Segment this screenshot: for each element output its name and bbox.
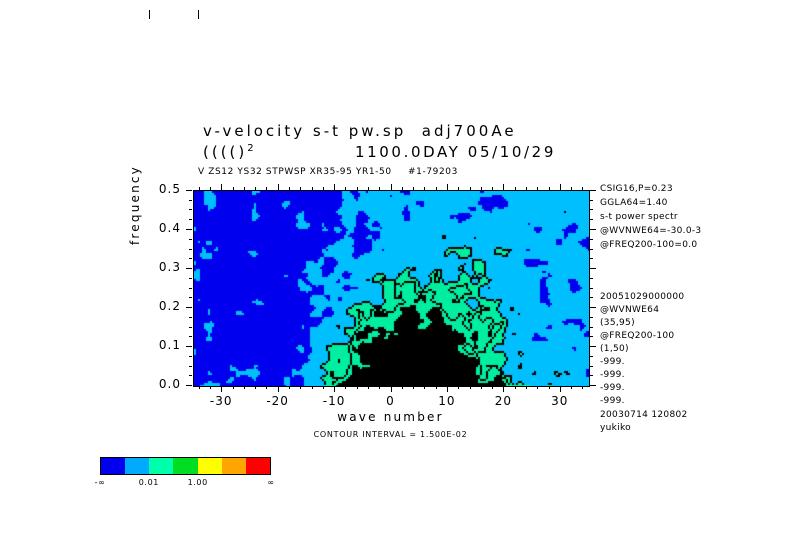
x-minor-tick xyxy=(413,386,414,389)
x-major-tick-top xyxy=(447,184,448,190)
x-minor-tick xyxy=(526,386,527,389)
x-major-tick-top xyxy=(560,184,561,190)
x-minor-tick-top xyxy=(357,187,358,190)
color-legend xyxy=(100,457,271,475)
y-minor-tick-right xyxy=(590,288,593,289)
y-minor-tick-right xyxy=(590,209,593,210)
x-minor-tick xyxy=(266,386,267,389)
x-minor-tick-top xyxy=(413,187,414,190)
x-major-tick-top xyxy=(278,184,279,190)
y-major-tick xyxy=(186,307,192,308)
y-minor-tick-right xyxy=(590,317,593,318)
y-minor-tick-right xyxy=(590,249,593,250)
x-major-tick-top xyxy=(334,184,335,190)
annotation-line: GGLA64=1.40 xyxy=(600,198,668,208)
x-major-tick xyxy=(503,386,504,392)
annotation-line: yukiko xyxy=(600,423,631,433)
y-minor-tick xyxy=(189,239,192,240)
x-major-tick-top xyxy=(391,184,392,190)
y-minor-tick xyxy=(189,317,192,318)
annotation-line: -999. xyxy=(600,396,625,406)
y-minor-tick xyxy=(189,209,192,210)
annotation-line: CSIG16,P=0.23 xyxy=(600,184,673,194)
figure-canvas: v-velocity s-t pw.sp adj700Ae (((()2 110… xyxy=(0,0,789,558)
y-minor-tick-right xyxy=(590,356,593,357)
x-minor-tick xyxy=(571,386,572,389)
y-minor-tick-right xyxy=(590,239,593,240)
x-minor-tick-top xyxy=(289,187,290,190)
color-legend-band xyxy=(149,458,173,474)
x-major-tick xyxy=(334,386,335,392)
annotation-line: @WVNWE64=-30.0-3 xyxy=(600,226,701,236)
y-major-tick-right xyxy=(590,307,596,308)
y-major-tick-right xyxy=(590,268,596,269)
x-minor-tick xyxy=(458,386,459,389)
annotation-line: @FREQ200-100 xyxy=(600,331,674,341)
contour-field xyxy=(194,191,589,386)
y-major-tick xyxy=(186,190,192,191)
x-minor-tick xyxy=(424,386,425,389)
x-tick-label: -10 xyxy=(304,394,364,408)
y-tick-label: 0.2 xyxy=(125,299,181,313)
x-major-tick xyxy=(391,386,392,392)
y-major-tick-right xyxy=(590,190,596,191)
x-minor-tick-top xyxy=(526,187,527,190)
y-minor-tick-right xyxy=(590,327,593,328)
y-minor-tick-right xyxy=(590,366,593,367)
color-legend-label: ∞ xyxy=(246,478,296,487)
annotation-line: (1,50) xyxy=(600,344,629,354)
x-minor-tick-top xyxy=(402,187,403,190)
x-minor-tick-top xyxy=(549,187,550,190)
y-minor-tick-right xyxy=(590,375,593,376)
plot-subtitle-units: (((()2 xyxy=(203,143,254,161)
x-tick-label: 0 xyxy=(361,394,421,408)
x-tick-label: 20 xyxy=(473,394,533,408)
x-major-tick-top xyxy=(221,184,222,190)
color-legend-band xyxy=(173,458,197,474)
y-minor-tick-right xyxy=(590,297,593,298)
x-minor-tick xyxy=(379,386,380,389)
x-minor-tick-top xyxy=(582,187,583,190)
y-minor-tick xyxy=(189,258,192,259)
parameter-line: V ZS12 YS32 STPWSP XR35-95 YR1-50 xyxy=(198,167,392,177)
y-minor-tick xyxy=(189,219,192,220)
x-minor-tick-top xyxy=(436,187,437,190)
x-minor-tick-top xyxy=(233,187,234,190)
x-minor-tick xyxy=(312,386,313,389)
y-minor-tick-right xyxy=(590,219,593,220)
x-major-tick xyxy=(447,386,448,392)
plot-title: v-velocity s-t pw.sp adj700Ae xyxy=(203,122,517,140)
y-major-tick-right xyxy=(590,229,596,230)
color-legend-separator xyxy=(198,10,199,19)
x-tick-label: -30 xyxy=(191,394,251,408)
x-minor-tick xyxy=(537,386,538,389)
plot-area xyxy=(193,190,590,387)
y-minor-tick xyxy=(189,278,192,279)
parameter-id: #1-79203 xyxy=(408,167,458,177)
y-major-tick xyxy=(186,385,192,386)
y-minor-tick xyxy=(189,249,192,250)
y-minor-tick xyxy=(189,375,192,376)
y-minor-tick-right xyxy=(590,336,593,337)
x-minor-tick-top xyxy=(210,187,211,190)
x-minor-tick xyxy=(436,386,437,389)
x-minor-tick-top xyxy=(266,187,267,190)
x-minor-tick-top xyxy=(199,187,200,190)
color-legend-separator xyxy=(149,10,150,19)
x-minor-tick xyxy=(255,386,256,389)
y-major-tick-right xyxy=(590,346,596,347)
y-minor-tick xyxy=(189,327,192,328)
x-minor-tick xyxy=(368,386,369,389)
x-minor-tick xyxy=(515,386,516,389)
annotation-line: @FREQ200-100=0.0 xyxy=(600,240,697,250)
y-major-tick-right xyxy=(590,385,596,386)
subtitle-units-text: (((() xyxy=(203,143,247,161)
y-minor-tick xyxy=(189,297,192,298)
color-legend-label: 0.01 xyxy=(124,478,174,487)
color-legend-band xyxy=(125,458,149,474)
x-minor-tick-top xyxy=(379,187,380,190)
annotation-line: -999. xyxy=(600,383,625,393)
x-minor-tick xyxy=(470,386,471,389)
x-minor-tick-top xyxy=(312,187,313,190)
x-axis-title: wave number xyxy=(193,410,588,424)
contour-interval-note: CONTOUR INTERVAL = 1.500E-02 xyxy=(193,430,588,439)
subtitle-superscript: 2 xyxy=(247,143,253,154)
x-minor-tick-top xyxy=(244,187,245,190)
y-minor-tick xyxy=(189,356,192,357)
x-minor-tick xyxy=(402,386,403,389)
x-minor-tick-top xyxy=(345,187,346,190)
y-minor-tick xyxy=(189,200,192,201)
x-minor-tick-top xyxy=(537,187,538,190)
x-major-tick xyxy=(560,386,561,392)
x-minor-tick-top xyxy=(424,187,425,190)
x-minor-tick-top xyxy=(481,187,482,190)
y-minor-tick xyxy=(189,366,192,367)
x-minor-tick xyxy=(210,386,211,389)
x-minor-tick xyxy=(582,386,583,389)
color-legend-label: 1.00 xyxy=(173,478,223,487)
x-minor-tick-top xyxy=(255,187,256,190)
color-legend-band xyxy=(101,458,125,474)
x-minor-tick-top xyxy=(458,187,459,190)
annotation-line: 20030714 120802 xyxy=(600,410,688,420)
x-minor-tick-top xyxy=(571,187,572,190)
y-tick-label: 0.1 xyxy=(125,338,181,352)
x-minor-tick xyxy=(199,386,200,389)
y-minor-tick-right xyxy=(590,258,593,259)
annotation-line: 20051029000000 xyxy=(600,292,684,302)
x-minor-tick xyxy=(357,386,358,389)
y-major-tick xyxy=(186,346,192,347)
x-minor-tick-top xyxy=(300,187,301,190)
x-minor-tick xyxy=(244,386,245,389)
y-major-tick xyxy=(186,229,192,230)
x-minor-tick xyxy=(323,386,324,389)
x-minor-tick xyxy=(492,386,493,389)
color-legend-band xyxy=(246,458,270,474)
y-tick-label: 0.0 xyxy=(125,377,181,391)
x-major-tick-top xyxy=(503,184,504,190)
x-tick-label: 30 xyxy=(530,394,590,408)
x-minor-tick xyxy=(345,386,346,389)
annotation-line: @WVNWE64 xyxy=(600,305,659,315)
color-legend-band xyxy=(198,458,222,474)
y-minor-tick-right xyxy=(590,278,593,279)
color-legend-band xyxy=(222,458,246,474)
x-major-tick xyxy=(278,386,279,392)
x-tick-label: 10 xyxy=(417,394,477,408)
x-minor-tick xyxy=(481,386,482,389)
x-minor-tick xyxy=(233,386,234,389)
y-major-tick xyxy=(186,268,192,269)
plot-subtitle-date: 1100.0DAY 05/10/29 xyxy=(355,143,556,161)
x-minor-tick xyxy=(549,386,550,389)
x-minor-tick-top xyxy=(323,187,324,190)
y-tick-label: 0.3 xyxy=(125,260,181,274)
x-minor-tick xyxy=(300,386,301,389)
x-minor-tick-top xyxy=(470,187,471,190)
x-major-tick xyxy=(221,386,222,392)
y-minor-tick xyxy=(189,336,192,337)
annotation-line: -999. xyxy=(600,370,625,380)
x-minor-tick-top xyxy=(492,187,493,190)
y-minor-tick-right xyxy=(590,200,593,201)
annotation-line: -999. xyxy=(600,357,625,367)
x-minor-tick-top xyxy=(368,187,369,190)
x-tick-label: -20 xyxy=(248,394,308,408)
x-minor-tick-top xyxy=(515,187,516,190)
y-minor-tick xyxy=(189,288,192,289)
x-minor-tick xyxy=(289,386,290,389)
annotation-line: s-t power spectr xyxy=(600,212,678,222)
y-axis-title: frequency xyxy=(128,165,142,245)
color-legend-label: -∞ xyxy=(75,478,125,487)
annotation-line: (35,95) xyxy=(600,318,635,328)
